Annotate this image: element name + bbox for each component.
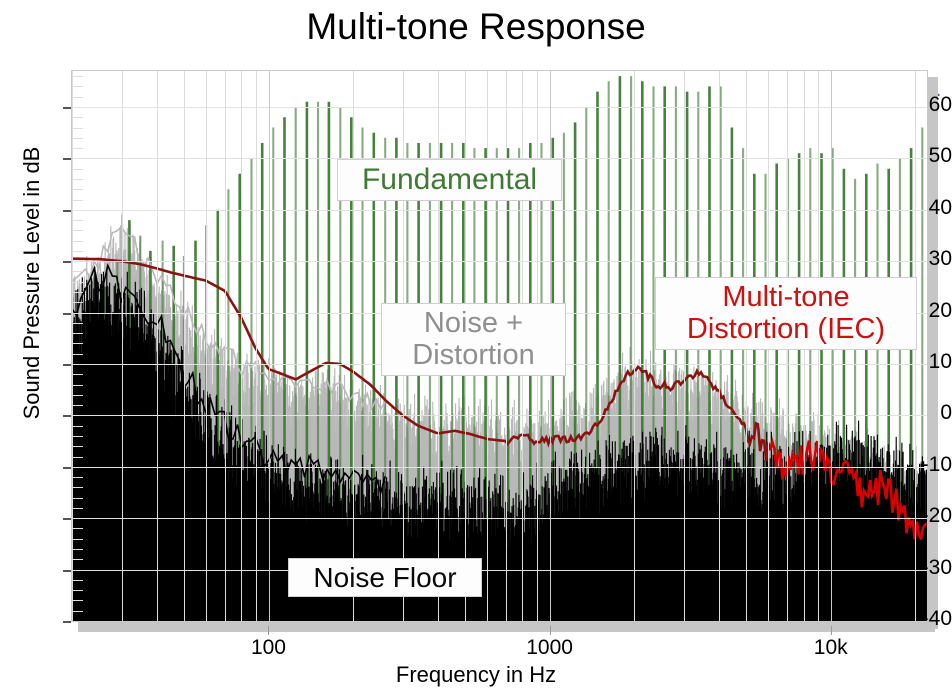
- x-axis-tick-mark: [550, 626, 551, 635]
- y-axis-tick-mark: [63, 467, 71, 469]
- y-axis-tick-label: -10: [906, 453, 952, 477]
- y-axis-minor-tick: [72, 426, 83, 427]
- gridline-vertical: [256, 71, 257, 621]
- y-axis-minor-tick: [72, 138, 83, 139]
- y-axis-tick-label: 40: [906, 196, 952, 220]
- y-axis-minor-tick: [72, 385, 83, 386]
- y-axis-minor-tick: [72, 220, 83, 221]
- annotation-fundamental: Fundamental: [337, 159, 562, 201]
- y-axis-minor-tick: [72, 241, 83, 242]
- y-axis-tick-mark: [63, 415, 71, 417]
- plot-shadow-bottom: [78, 622, 935, 632]
- y-axis-minor-tick: [72, 395, 83, 396]
- y-axis-minor-tick: [72, 148, 83, 149]
- y-axis-label: Sound Pressure Level in dB: [19, 23, 45, 543]
- y-axis-minor-tick: [72, 76, 83, 77]
- x-axis-tick-label: 1000: [505, 636, 595, 660]
- y-axis-minor-tick: [72, 477, 83, 478]
- y-axis-minor-tick: [72, 559, 83, 560]
- y-axis-minor-tick: [72, 498, 83, 499]
- y-axis-minor-tick: [72, 354, 83, 355]
- y-axis-minor-tick: [72, 117, 83, 118]
- x-axis-tick-mark: [268, 626, 269, 635]
- gridline-horizontal: [72, 107, 927, 108]
- y-axis-minor-tick: [72, 600, 83, 601]
- y-axis-minor-tick: [72, 457, 83, 458]
- x-axis-tick-mark: [831, 626, 832, 635]
- y-axis-tick-label: 0: [906, 401, 952, 425]
- y-axis-tick-mark: [63, 313, 71, 315]
- y-axis-tick-label: -30: [906, 556, 952, 580]
- annotation-multitone-distortion-line2: Distortion (IEC): [666, 313, 906, 345]
- y-axis-minor-tick: [72, 611, 83, 612]
- y-axis-minor-tick: [72, 86, 83, 87]
- y-axis-minor-tick: [72, 446, 83, 447]
- y-axis-minor-tick: [72, 128, 83, 129]
- y-axis-minor-tick: [72, 405, 83, 406]
- gridline-horizontal: [72, 210, 927, 211]
- y-axis-minor-tick: [72, 179, 83, 180]
- y-axis-minor-tick: [72, 230, 83, 231]
- gridline-vertical: [241, 71, 242, 621]
- y-axis-tick-mark: [63, 210, 71, 212]
- y-axis-tick-mark: [63, 570, 71, 572]
- annotation-multitone-distortion-line1: Multi-tone: [666, 281, 906, 313]
- gridline-horizontal: [72, 415, 927, 416]
- gridline-vertical: [269, 71, 270, 621]
- chart-root: Multi-tone Response KLIPPEL 605040302010…: [0, 0, 952, 689]
- y-axis-tick-mark: [63, 518, 71, 520]
- gridline-horizontal: [72, 467, 927, 468]
- y-axis-tick-mark: [63, 107, 71, 109]
- gridline-vertical: [184, 71, 185, 621]
- annotation-noise-distortion-line2: Distortion: [392, 339, 555, 371]
- gridline-vertical: [225, 71, 226, 621]
- gridline-vertical: [122, 71, 123, 621]
- y-axis-minor-tick: [72, 200, 83, 201]
- y-axis-minor-tick: [72, 487, 83, 488]
- gridline-horizontal: [72, 518, 927, 519]
- y-axis-minor-tick: [72, 189, 83, 190]
- y-axis-minor-tick: [72, 508, 83, 509]
- gridline-vertical: [634, 71, 635, 621]
- x-axis-label: Frequency in Hz: [0, 662, 952, 688]
- page-title: Multi-tone Response: [0, 6, 952, 48]
- y-axis-tick-label: 50: [906, 144, 952, 168]
- y-axis-tick-mark: [63, 261, 71, 263]
- y-axis-minor-tick: [72, 251, 83, 252]
- gridline-vertical: [353, 71, 354, 621]
- y-axis-minor-tick: [72, 333, 83, 334]
- y-axis-minor-tick: [72, 271, 83, 272]
- y-axis-tick-mark: [63, 364, 71, 366]
- y-axis-minor-tick: [72, 302, 83, 303]
- gridline-vertical: [206, 71, 207, 621]
- y-axis-minor-tick: [72, 374, 83, 375]
- y-axis-tick-label: 60: [906, 93, 952, 117]
- gridline-horizontal: [72, 570, 927, 571]
- x-axis-tick-label: 100: [223, 636, 313, 660]
- y-axis-minor-tick: [72, 282, 83, 283]
- y-axis-minor-tick: [72, 169, 83, 170]
- x-axis-tick-label: 10k: [786, 636, 876, 660]
- annotation-noise-floor: Noise Floor: [288, 558, 482, 597]
- gridline-vertical: [157, 71, 158, 621]
- y-axis-minor-tick: [72, 343, 83, 344]
- y-axis-minor-tick: [72, 590, 83, 591]
- y-axis-minor-tick: [72, 539, 83, 540]
- gridline-horizontal: [72, 621, 927, 622]
- y-axis-tick-mark: [63, 158, 71, 160]
- y-axis-minor-tick: [72, 436, 83, 437]
- y-axis-minor-tick: [72, 528, 83, 529]
- y-axis-tick-label: 30: [906, 247, 952, 271]
- gridline-horizontal: [72, 261, 927, 262]
- y-axis-tick-mark: [63, 621, 71, 623]
- y-axis-minor-tick: [72, 323, 83, 324]
- annotation-noise-distortion: Noise + Distortion: [381, 303, 566, 376]
- y-axis-tick-label: -40: [906, 607, 952, 631]
- y-axis-tick-label: 10: [906, 350, 952, 374]
- y-axis-minor-tick: [72, 549, 83, 550]
- y-axis-minor-tick: [72, 580, 83, 581]
- y-axis-minor-tick: [72, 292, 83, 293]
- y-axis-tick-label: -20: [906, 504, 952, 528]
- annotation-multitone-distortion: Multi-tone Distortion (IEC): [655, 277, 917, 350]
- y-axis-minor-tick: [72, 97, 83, 98]
- annotation-noise-distortion-line1: Noise +: [392, 307, 555, 339]
